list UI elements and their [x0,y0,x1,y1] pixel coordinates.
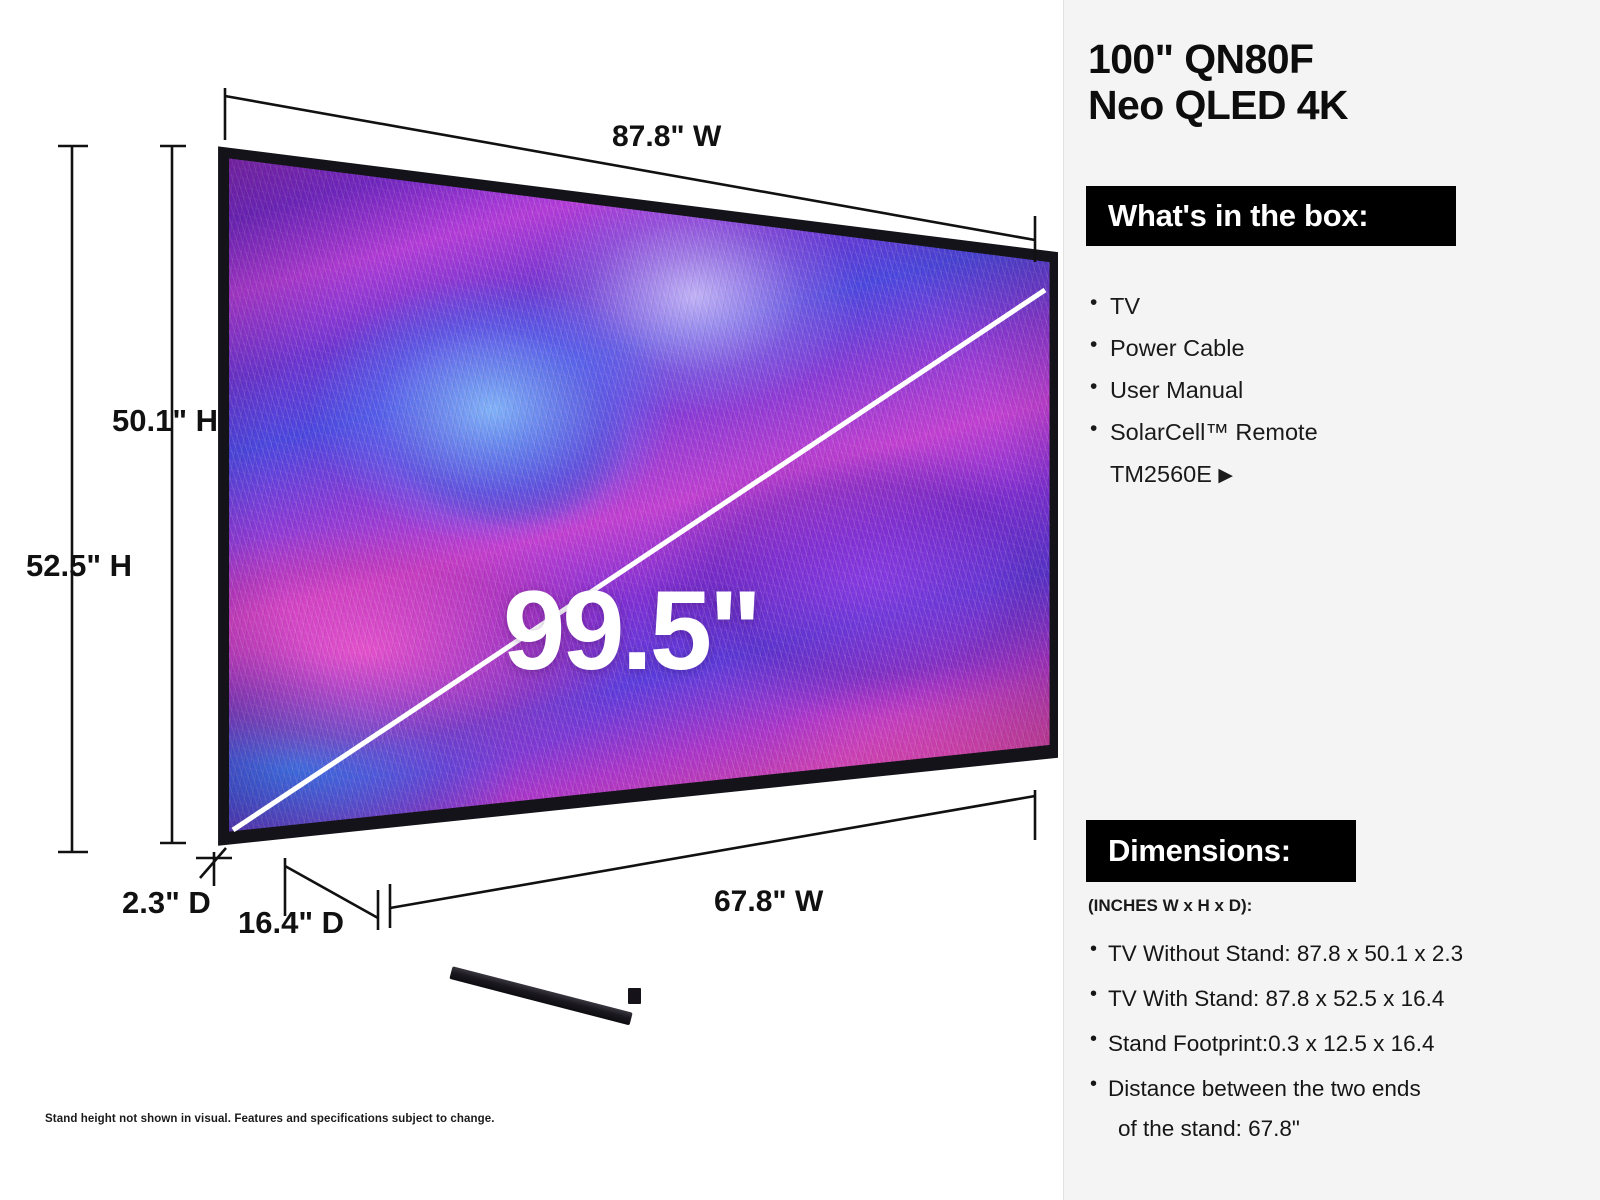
dimensions-heading-label: Dimensions: [1108,833,1291,869]
list-item: TV Without Stand: 87.8 x 50.1 x 2.3 [1088,934,1588,973]
box-item-label: TV [1110,293,1140,319]
dimension-label-total-height: 52.5" H [26,548,132,584]
tv-diagram-panel: 99.5" [0,0,1063,1200]
product-title: 100" QN80F Neo QLED 4K [1088,36,1508,129]
dimension-item-label: Distance between the two ends [1108,1076,1421,1101]
dimension-item-label-cont: of the stand: 67.8" [1108,1109,1588,1148]
tv-illustration: 99.5" [213,140,1058,850]
screen-diagonal-line [213,140,1058,850]
dimension-label-width-top: 87.8" W [612,120,721,154]
product-title-line-1: 100" QN80F [1088,36,1508,82]
dimensions-list: TV Without Stand: 87.8 x 50.1 x 2.3 TV W… [1088,928,1588,1148]
box-item-label: SolarCell™ Remote [1110,419,1318,445]
dimension-label-panel-depth: 2.3" D [122,885,211,921]
play-triangle-icon[interactable]: ▶ [1218,465,1233,486]
dimensions-subheading: (INCHES W x H x D): [1088,896,1252,916]
dimension-item-label: TV With Stand: 87.8 x 52.5 x 16.4 [1108,986,1444,1011]
stand-leg-left [449,966,632,1025]
whats-in-the-box-heading: What's in the box: [1086,186,1456,246]
whats-in-the-box-list: TV Power Cable User Manual SolarCell™ Re… [1088,285,1378,495]
list-item: TV [1088,285,1378,327]
box-item-label: Power Cable [1110,335,1245,361]
dimension-label-stand-width: 67.8" W [714,885,823,919]
screen-diagonal-label: 99.5" [503,575,759,687]
list-item-remote[interactable]: SolarCell™ Remote TM2560E ▶ [1088,411,1378,495]
list-item: TV With Stand: 87.8 x 52.5 x 16.4 [1088,979,1588,1018]
whats-in-the-box-heading-label: What's in the box: [1108,198,1368,234]
dimension-item-label: TV Without Stand: 87.8 x 50.1 x 2.3 [1108,941,1463,966]
list-item: Stand Footprint:0.3 x 12.5 x 16.4 [1088,1024,1588,1063]
remote-model-number: TM2560E [1110,461,1212,487]
list-item: Power Cable [1088,327,1378,369]
product-title-line-2: Neo QLED 4K [1088,82,1508,128]
stand-foot-left [628,988,641,1004]
dimensions-heading: Dimensions: [1086,820,1356,882]
info-panel: 100" QN80F Neo QLED 4K What's in the box… [1063,0,1600,1200]
box-item-sublabel: TM2560E ▶ [1110,453,1378,495]
dimension-label-panel-height: 50.1" H [112,403,218,439]
footnote-disclaimer: Stand height not shown in visual. Featur… [45,1113,495,1125]
list-item: User Manual [1088,369,1378,411]
product-spec-sheet: 99.5" [0,0,1600,1200]
box-item-label: User Manual [1110,377,1243,403]
dimension-label-stand-depth: 16.4" D [238,905,344,941]
list-item: Distance between the two ends of the sta… [1088,1069,1588,1147]
dimension-item-label: Stand Footprint:0.3 x 12.5 x 16.4 [1108,1031,1434,1056]
